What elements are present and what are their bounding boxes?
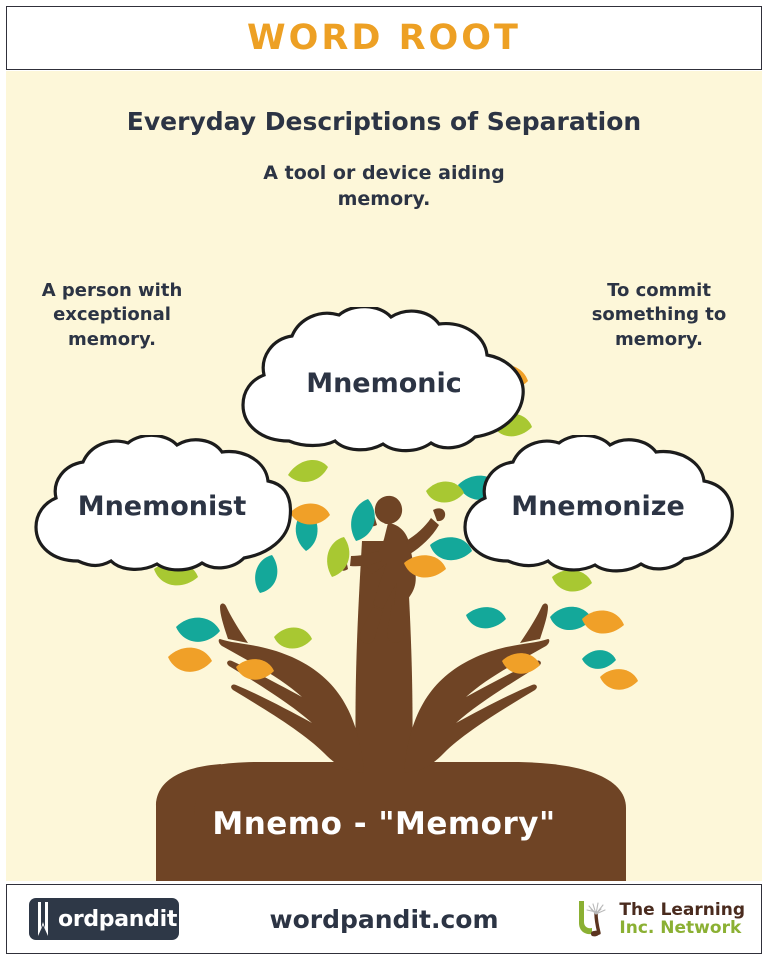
footer-band: ordpandit wordpandit.com The Learning	[6, 884, 762, 954]
page-title: WORD ROOT	[247, 18, 521, 58]
root-banner-text: Mnemo - "Memory"	[6, 806, 762, 842]
infographic-page: WORD ROOT Everyday Descriptions of Separ…	[0, 0, 768, 960]
cloud-mnemonist[interactable]: Mnemonist	[26, 435, 298, 573]
main-canvas: Everyday Descriptions of Separation A to…	[6, 71, 762, 881]
header-band: WORD ROOT	[6, 6, 762, 70]
cloud-mnemonize[interactable]: Mnemonize	[454, 435, 742, 573]
cloud-label-right: Mnemonize	[511, 491, 685, 522]
cloud-mnemonic[interactable]: Mnemonic	[231, 307, 537, 453]
cloud-label-top: Mnemonic	[306, 368, 462, 399]
partner-line-1: The Learning	[619, 901, 745, 919]
learning-tree-icon	[571, 895, 615, 944]
partner-name: The Learning Inc. Network	[619, 901, 745, 938]
the-learning-network-logo[interactable]: The Learning Inc. Network	[571, 895, 745, 944]
partner-line-2: Inc. Network	[619, 919, 745, 937]
cloud-label-left: Mnemonist	[78, 491, 247, 522]
